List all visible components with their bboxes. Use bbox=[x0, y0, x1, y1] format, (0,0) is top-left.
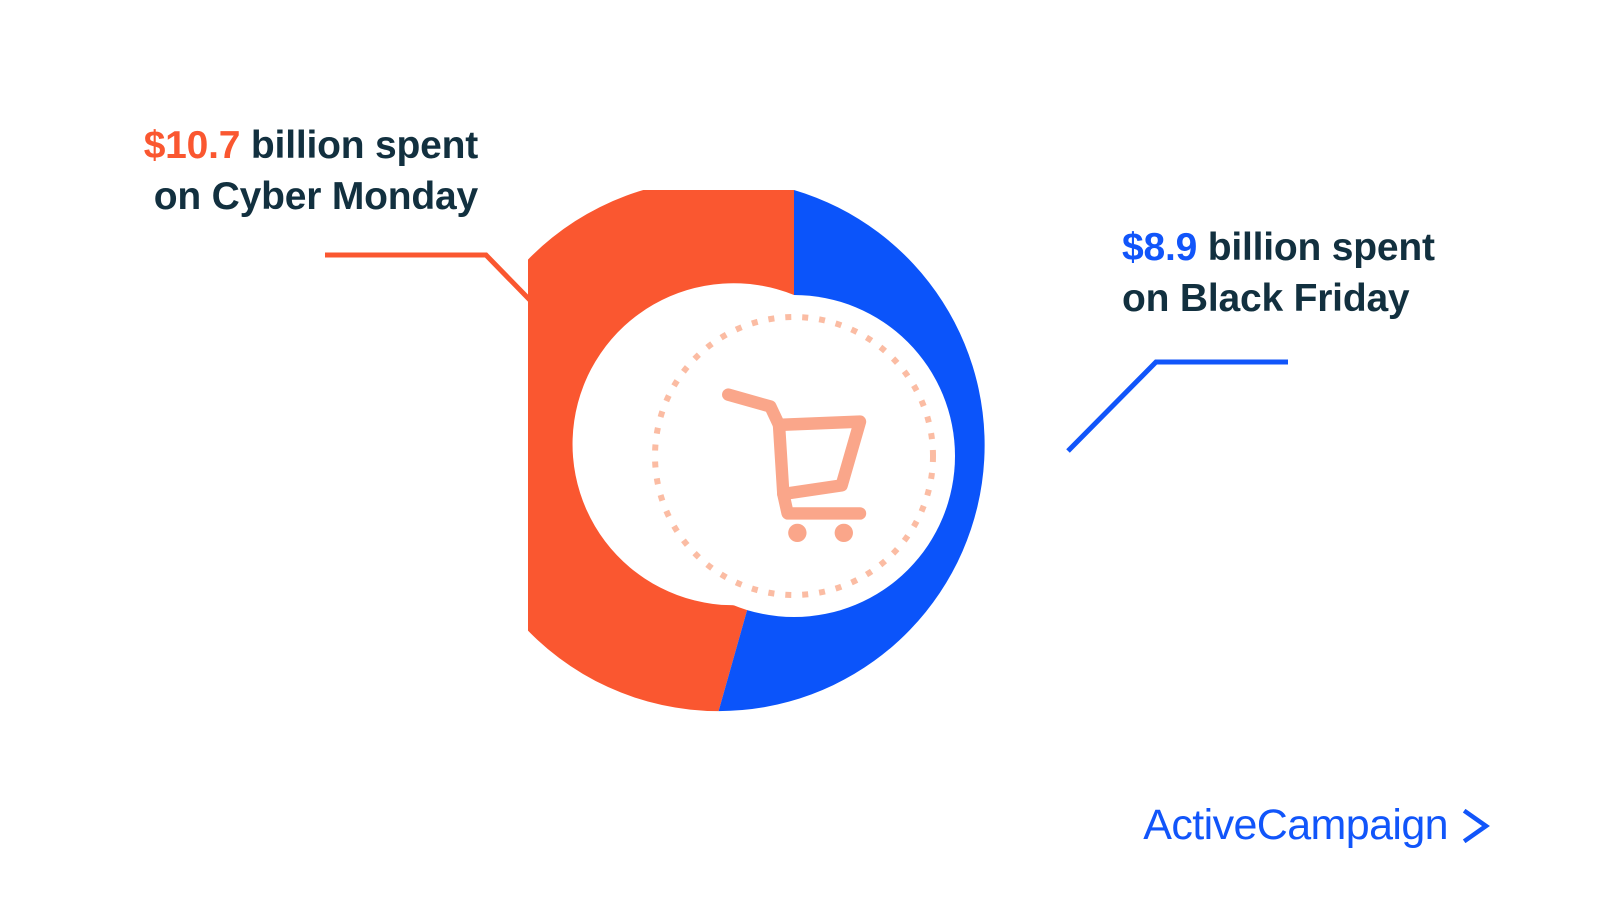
leader-line-black-friday bbox=[1068, 362, 1288, 451]
callout-line-1: $8.9 billion spent bbox=[1122, 222, 1435, 273]
donut-center-disc bbox=[633, 295, 955, 617]
callout-line-2: on Black Friday bbox=[1122, 273, 1435, 324]
callout-label-black-friday: $8.9 billion spent on Black Friday bbox=[1122, 222, 1435, 325]
chevron-right-icon bbox=[1462, 809, 1492, 843]
brand-wordmark: ActiveCampaign bbox=[1143, 804, 1448, 847]
amount-black-friday-suffix: billion spent bbox=[1197, 226, 1435, 269]
callout-line-1: $10.7 billion spent bbox=[0, 120, 478, 171]
amount-black-friday: $8.9 bbox=[1122, 226, 1197, 269]
callout-line-2: on Cyber Monday bbox=[0, 171, 478, 222]
donut-chart-svg bbox=[528, 190, 1060, 722]
callout-label-cyber-monday: $10.7 billion spent on Cyber Monday bbox=[0, 120, 500, 223]
leader-line-cyber-monday bbox=[325, 255, 562, 333]
activecampaign-logo[interactable]: ActiveCampaign bbox=[1143, 804, 1492, 847]
infographic-canvas: $10.7 billion spent on Cyber Monday $8.9… bbox=[0, 0, 1600, 915]
amount-cyber-monday: $10.7 bbox=[144, 124, 241, 167]
donut-chart bbox=[528, 190, 1060, 722]
amount-cyber-monday-suffix: billion spent bbox=[240, 124, 478, 167]
